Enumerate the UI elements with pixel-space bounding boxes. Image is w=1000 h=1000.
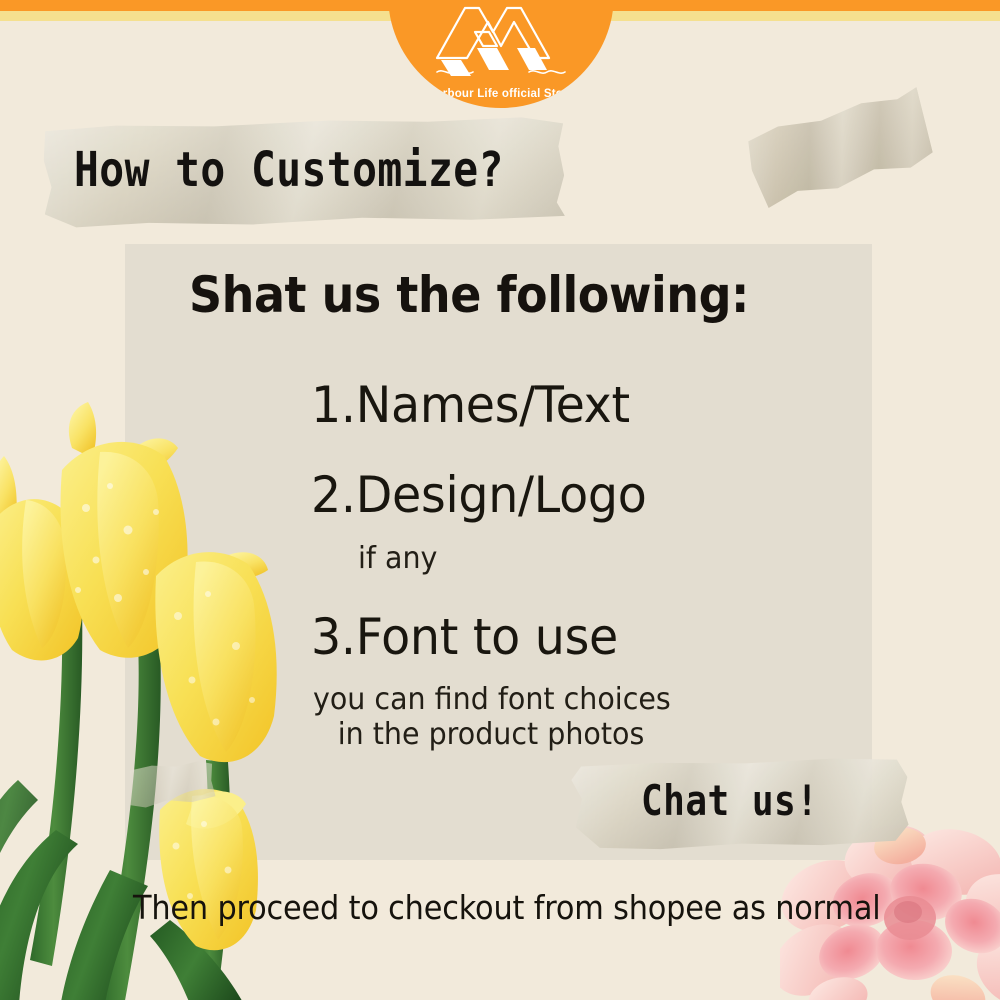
harbour-life-monogram-icon bbox=[431, 2, 571, 82]
list-item-design-logo: 2.Design/Logo bbox=[311, 466, 647, 524]
list-item-font-note: you can find font choices in the product… bbox=[313, 682, 671, 752]
washi-tape-top-right bbox=[740, 80, 944, 240]
font-note-line-2: in the product photos bbox=[313, 717, 671, 752]
subheading: Shat us the following: bbox=[189, 264, 749, 326]
font-note-line-1: you can find font choices bbox=[313, 682, 671, 717]
list-item-design-logo-note: if any bbox=[358, 542, 437, 576]
chat-us-label[interactable]: Chat us! bbox=[641, 776, 818, 826]
poster-canvas: How to Customize? Shat us the following:… bbox=[0, 0, 1000, 1000]
brand-badge: Harbour Life official Store bbox=[388, 0, 614, 108]
brand-store-name: Harbour Life official Store bbox=[388, 88, 614, 100]
list-item-names-text: 1.Names/Text bbox=[311, 376, 630, 434]
list-item-font-to-use: 3.Font to use bbox=[311, 608, 618, 666]
page-title: How to Customize? bbox=[74, 141, 504, 199]
footer-note: Then proceed to checkout from shopee as … bbox=[133, 888, 881, 928]
